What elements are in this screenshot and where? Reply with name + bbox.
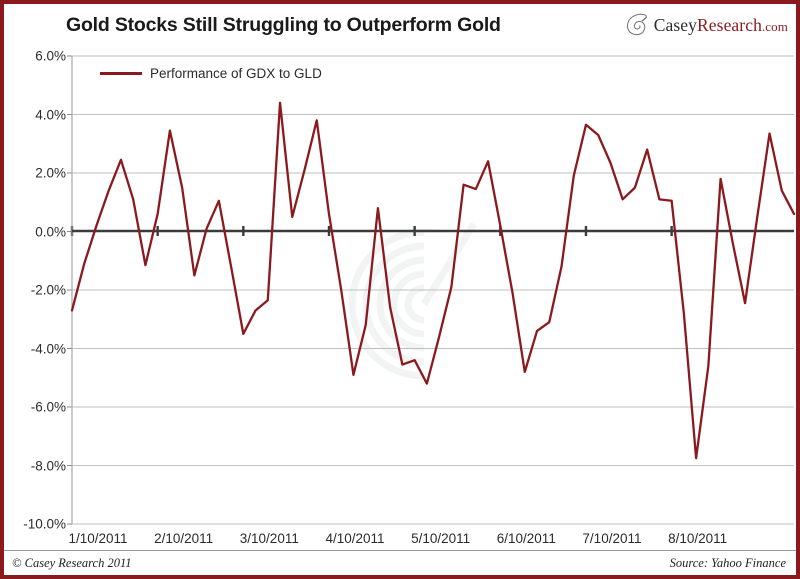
y-axis-tick-label: -8.0% — [4, 458, 66, 473]
x-axis-tick-label: 1/10/2011 — [68, 531, 127, 546]
x-axis-tick-label: 6/10/2011 — [497, 531, 556, 546]
y-axis-tick-label: 0.0% — [4, 224, 66, 239]
x-axis-tick-label: 5/10/2011 — [411, 531, 470, 546]
y-axis-tick-label: 4.0% — [4, 107, 66, 122]
legend-label: Performance of GDX to GLD — [150, 66, 322, 81]
chart-canvas: Gold Stocks Still Struggling to Outperfo… — [4, 4, 796, 575]
copyright-text: © Casey Research 2011 — [12, 556, 132, 571]
footer-divider — [4, 550, 796, 551]
gridlines — [67, 56, 794, 524]
y-axis-tick-label: -4.0% — [4, 341, 66, 356]
x-axis-tick-label: 8/10/2011 — [668, 531, 727, 546]
legend: Performance of GDX to GLD — [100, 66, 322, 81]
plot-area — [4, 4, 800, 575]
y-axis-tick-label: 6.0% — [4, 49, 66, 64]
x-axis-tick-label: 7/10/2011 — [582, 531, 641, 546]
chart-svg — [4, 4, 800, 575]
y-axis-tick-label: 2.0% — [4, 166, 66, 181]
chart-image-frame: Gold Stocks Still Struggling to Outperfo… — [0, 0, 800, 579]
y-axis-tick-label: -2.0% — [4, 283, 66, 298]
x-axis-tick-label: 3/10/2011 — [240, 531, 299, 546]
x-axis-tick-label: 4/10/2011 — [325, 531, 384, 546]
x-axis-tick-label: 2/10/2011 — [154, 531, 213, 546]
source-text: Source: Yahoo Finance — [670, 556, 786, 571]
y-axis-tick-label: -6.0% — [4, 400, 66, 415]
y-axis-tick-label: -10.0% — [4, 517, 66, 532]
legend-color-swatch — [100, 72, 142, 75]
